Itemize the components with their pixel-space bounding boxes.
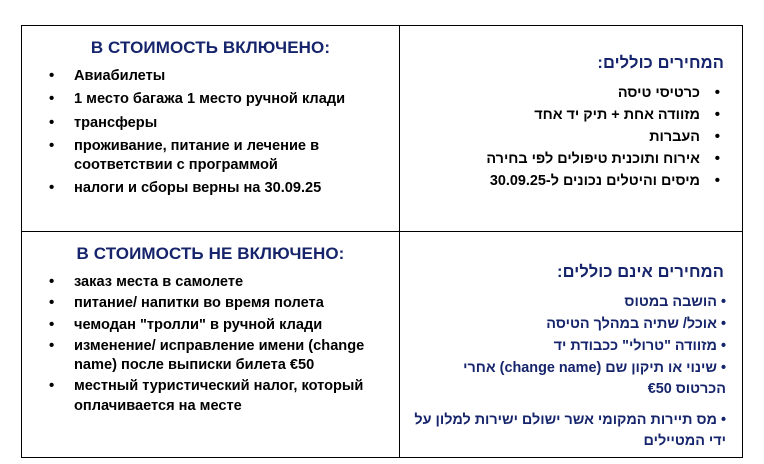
cell-not-included-hebrew: המחירים אינם כוללים: • הושבה במטוס • אוכ… <box>400 232 743 458</box>
validity-date: 30.09.25 <box>490 173 546 189</box>
list-item: מזוודה אחת + תיק יד אחד <box>408 105 726 126</box>
list-item: заказ места в самолете <box>40 273 387 292</box>
list-item: 1 место багажа 1 место ручной клади <box>40 90 387 109</box>
list-not-included-hebrew: • הושבה במטוס • אוכל/ שתיה במהלך הטיסה •… <box>408 292 734 452</box>
list-item: местный туристический налог, который опл… <box>40 377 387 416</box>
list-included-hebrew: כרטיסי טיסה מזוודה אחת + תיק יד אחד העבר… <box>408 83 734 191</box>
list-item: трансферы <box>40 114 387 133</box>
price-inclusions-table: В СТОИМОСТЬ ВКЛЮЧЕНО: Авиабилеты 1 место… <box>21 25 743 458</box>
list-item: • מזוודה "טרולי" ככבודת יד <box>410 336 726 357</box>
list-item: אירוח ותוכנית טיפולים לפי בחירה <box>408 149 726 170</box>
cell-included-russian: В СТОИМОСТЬ ВКЛЮЧЕНО: Авиабилеты 1 место… <box>22 26 400 232</box>
heading-not-included-hebrew: המחירים אינם כוללים: <box>408 263 724 282</box>
list-item: כרטיסי טיסה <box>408 83 726 104</box>
list-item: питание/ напитки во время полета <box>40 294 387 313</box>
list-included-russian: Авиабилеты 1 место багажа 1 место ручной… <box>30 67 391 199</box>
list-item-text: מיסים והיטלים נכונים ל- <box>546 173 700 189</box>
table-row-not-included: В СТОИМОСТЬ НЕ ВКЛЮЧЕНО: заказ места в с… <box>22 232 743 458</box>
heading-not-included-russian: В СТОИМОСТЬ НЕ ВКЛЮЧЕНО: <box>30 244 391 264</box>
list-item: проживание, питание и лечение в соответс… <box>40 137 387 176</box>
cell-included-hebrew: המחירים כוללים: כרטיסי טיסה מזוודה אחת +… <box>400 26 743 232</box>
list-item: Авиабилеты <box>40 67 387 86</box>
list-item: • אוכל/ שתיה במהלך הטיסה <box>410 314 726 335</box>
list-item: • מס תיירות המקומי אשר ישולם ישירות למלו… <box>410 410 726 452</box>
list-item-with-date: מיסים והיטלים נכונים ל-30.09.25 <box>408 171 726 192</box>
list-item: чемодан "тролли" в ручной клади <box>40 316 387 335</box>
table-row-included: В СТОИМОСТЬ ВКЛЮЧЕНО: Авиабилеты 1 место… <box>22 26 743 232</box>
list-item: • הושבה במטוס <box>410 292 726 313</box>
heading-included-russian: В СТОИМОСТЬ ВКЛЮЧЕНО: <box>30 38 391 58</box>
list-not-included-russian: заказ места в самолете питание/ напитки … <box>30 273 391 416</box>
cell-not-included-russian: В СТОИМОСТЬ НЕ ВКЛЮЧЕНО: заказ места в с… <box>22 232 400 458</box>
list-item: העברות <box>408 127 726 148</box>
list-item: • שינוי או תיקון שם (change name) אחרי ה… <box>410 358 726 400</box>
list-item: изменение/ исправление имени (change nam… <box>40 337 387 376</box>
heading-included-hebrew: המחירים כוללים: <box>408 54 724 73</box>
list-item: налоги и сборы верны на 30.09.25 <box>40 179 387 198</box>
